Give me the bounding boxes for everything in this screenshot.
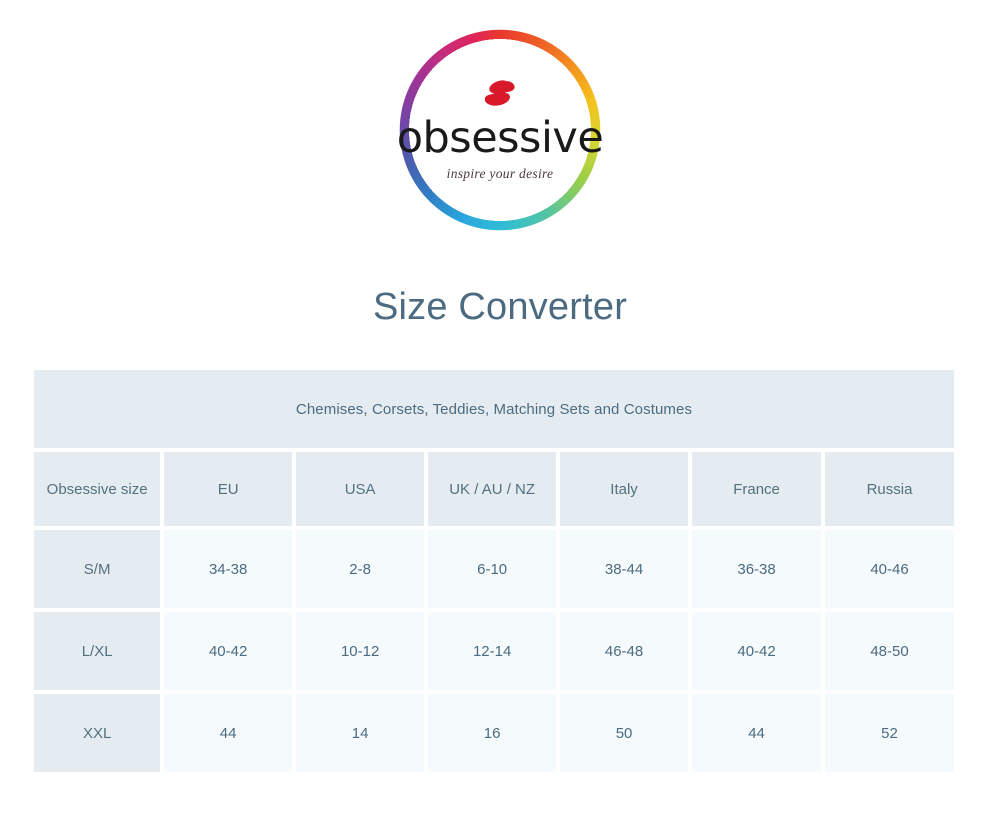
cell-italy: 38-44: [560, 530, 688, 608]
table-caption-row: Chemises, Corsets, Teddies, Matching Set…: [34, 370, 954, 448]
column-header-obsessive-size: Obsessive size: [34, 452, 160, 526]
table-row: L/XL 40-42 10-12 12-14 46-48 40-42 48-50: [34, 612, 954, 690]
cell-uk-au-nz: 6-10: [428, 530, 556, 608]
cell-usa: 14: [296, 694, 424, 772]
cell-eu: 40-42: [164, 612, 292, 690]
cell-italy: 50: [560, 694, 688, 772]
cell-eu: 34-38: [164, 530, 292, 608]
cell-uk-au-nz: 16: [428, 694, 556, 772]
logo-content: obsessive inspire your desire: [398, 28, 602, 232]
table-caption: Chemises, Corsets, Teddies, Matching Set…: [34, 370, 954, 448]
cell-russia: 40-46: [825, 530, 954, 608]
cell-usa: 2-8: [296, 530, 424, 608]
size-converter-page: obsessive inspire your desire Size Conve…: [0, 0, 1000, 825]
page-title: Size Converter: [0, 286, 1000, 329]
size-conversion-table: Chemises, Corsets, Teddies, Matching Set…: [30, 366, 958, 776]
column-header-italy: Italy: [560, 452, 688, 526]
brand-logo: obsessive inspire your desire: [0, 28, 1000, 238]
cell-uk-au-nz: 12-14: [428, 612, 556, 690]
cell-france: 36-38: [692, 530, 821, 608]
logo-wordmark: obsessive: [397, 117, 604, 160]
cell-usa: 10-12: [296, 612, 424, 690]
table-row: S/M 34-38 2-8 6-10 38-44 36-38 40-46: [34, 530, 954, 608]
cell-france: 44: [692, 694, 821, 772]
table-header-row: Obsessive size EU USA UK / AU / NZ Italy…: [34, 452, 954, 526]
column-header-france: France: [692, 452, 821, 526]
cell-france: 40-42: [692, 612, 821, 690]
table-row: XXL 44 14 16 50 44 52: [34, 694, 954, 772]
column-header-uk-au-nz: UK / AU / NZ: [428, 452, 556, 526]
cell-eu: 44: [164, 694, 292, 772]
logo-tagline: inspire your desire: [447, 166, 554, 182]
column-header-usa: USA: [296, 452, 424, 526]
cell-russia: 48-50: [825, 612, 954, 690]
column-header-russia: Russia: [825, 452, 954, 526]
cell-russia: 52: [825, 694, 954, 772]
column-header-eu: EU: [164, 452, 292, 526]
flame-s-icon: [485, 79, 515, 115]
cell-italy: 46-48: [560, 612, 688, 690]
logo-circle: obsessive inspire your desire: [398, 28, 602, 232]
row-header-size: L/XL: [34, 612, 160, 690]
row-header-size: S/M: [34, 530, 160, 608]
row-header-size: XXL: [34, 694, 160, 772]
